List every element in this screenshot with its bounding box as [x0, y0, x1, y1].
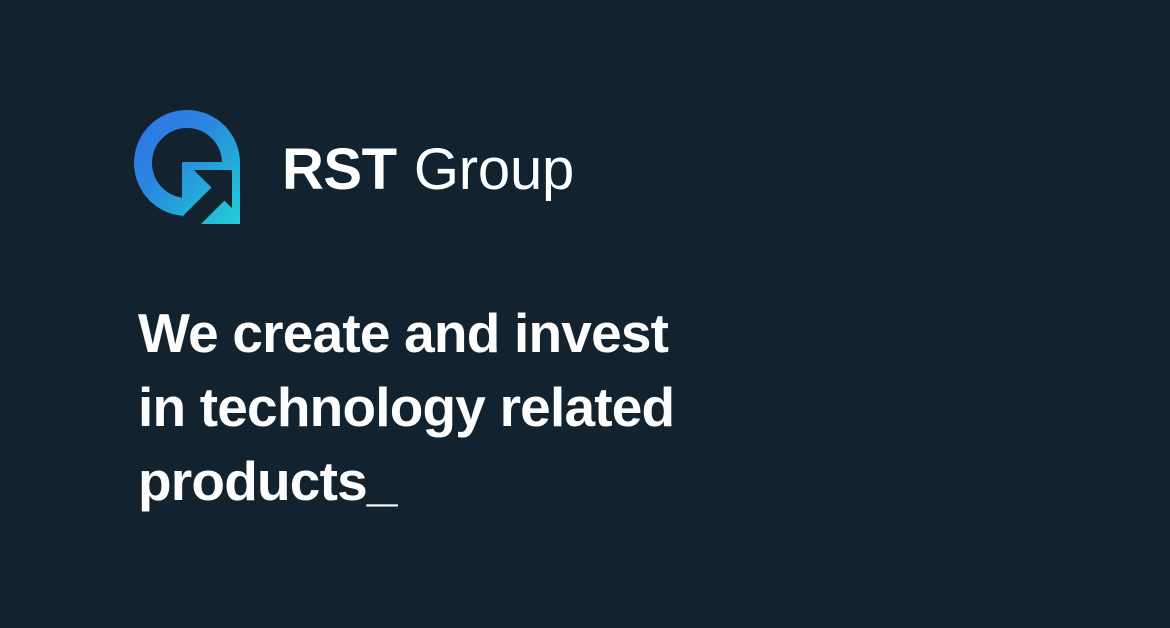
headline: We create and invest in technology relat…: [138, 296, 674, 518]
brand-lockup[interactable]: RST Group: [128, 104, 574, 228]
wordmark-rst: RST: [282, 141, 397, 199]
headline-line-2: in technology related: [138, 370, 674, 444]
headline-line-1: We create and invest: [138, 296, 674, 370]
slide-canvas: RST Group We create and invest in techno…: [0, 0, 1170, 628]
rst-group-g-arrow-logo-icon: [128, 104, 246, 228]
headline-line-3: products_: [138, 444, 674, 518]
wordmark-group: Group: [414, 141, 574, 199]
wordmark: RST Group: [282, 141, 574, 199]
